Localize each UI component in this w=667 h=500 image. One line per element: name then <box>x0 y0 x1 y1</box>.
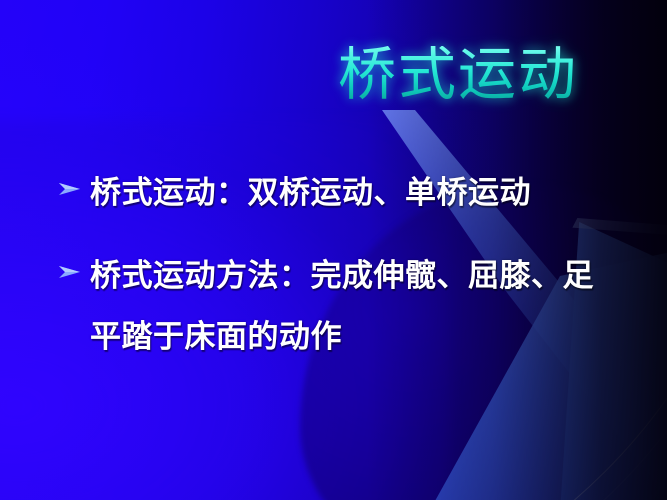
bullet-item-2-text: 桥式运动方法：完成伸髋、屈膝、足平踏于床面的动作 <box>90 258 594 354</box>
arrow-bullet-icon <box>58 263 84 281</box>
presentation-slide: 桥式运动 桥式运动：双桥运动、单桥运动 桥式运动方法：完成伸髋、屈膝、足平踏于床… <box>0 0 667 500</box>
slide-body: 桥式运动：双桥运动、单桥运动 桥式运动方法：完成伸髋、屈膝、足平踏于床面的动作 <box>56 162 616 389</box>
bullet-item-1-text: 桥式运动：双桥运动、单桥运动 <box>90 175 531 210</box>
arrow-bullet-icon <box>58 180 84 198</box>
bullet-item-2: 桥式运动方法：完成伸髋、屈膝、足平踏于床面的动作 <box>56 245 616 367</box>
slide-title: 桥式运动 <box>338 46 628 104</box>
bullet-item-1: 桥式运动：双桥运动、单桥运动 <box>56 162 616 223</box>
